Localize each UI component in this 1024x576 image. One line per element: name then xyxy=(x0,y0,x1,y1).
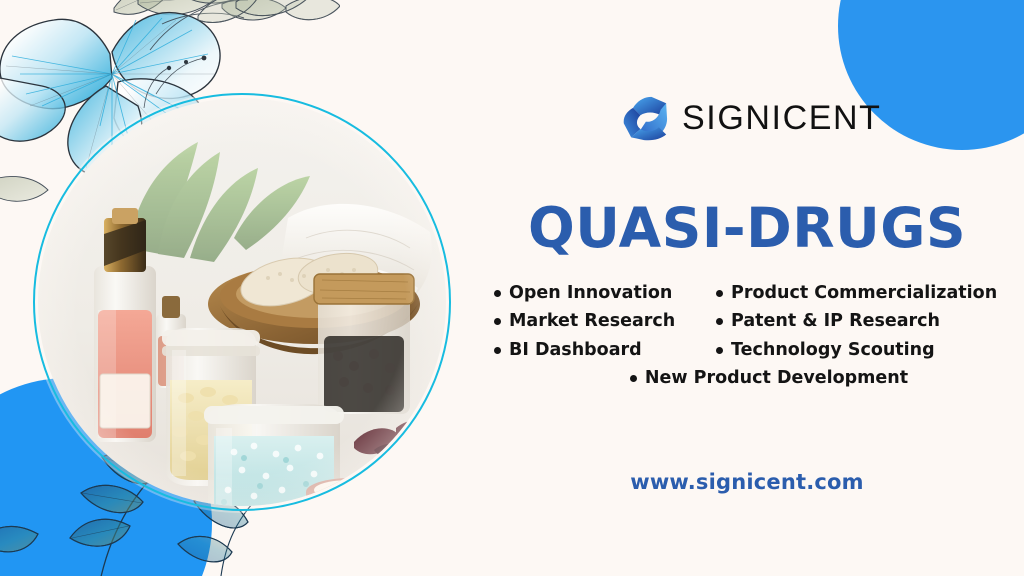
list-item: Open Innovation xyxy=(494,284,702,303)
signicent-s-logo-icon xyxy=(622,95,668,141)
services-footer-row: New Product Development xyxy=(494,369,1014,388)
bullet-dot-icon xyxy=(630,375,637,382)
list-item-label: BI Dashboard xyxy=(509,341,642,360)
bullet-dot-icon xyxy=(716,347,723,354)
list-item-label: New Product Development xyxy=(645,369,908,388)
list-item-label: Market Research xyxy=(509,312,675,331)
services-column-right: Product Commercialization Patent & IP Re… xyxy=(716,284,1012,360)
list-item-label: Patent & IP Research xyxy=(731,312,940,331)
bullet-dot-icon xyxy=(494,347,501,354)
bullet-dot-icon xyxy=(494,318,501,325)
brand-name: SIGNICENT xyxy=(682,99,882,138)
website-url[interactable]: www.signicent.com xyxy=(470,470,1024,494)
services-column-left: Open Innovation Market Research BI Dashb… xyxy=(494,284,702,360)
brand-lockup: SIGNICENT xyxy=(622,95,882,141)
list-item-label: Open Innovation xyxy=(509,284,672,303)
presentation-slide: SIGNICENT QUASI-DRUGS Open Innovation Ma… xyxy=(0,0,1024,576)
bullet-dot-icon xyxy=(716,318,723,325)
services-list: Open Innovation Market Research BI Dashb… xyxy=(494,284,1014,388)
list-item: Market Research xyxy=(494,312,702,331)
list-item: Product Commercialization xyxy=(716,284,1012,303)
list-item-label: Technology Scouting xyxy=(731,341,935,360)
list-item-label: Product Commercialization xyxy=(731,284,997,303)
product-photo-circle xyxy=(33,93,451,511)
list-item: BI Dashboard xyxy=(494,341,702,360)
services-columns: Open Innovation Market Research BI Dashb… xyxy=(494,284,1014,360)
list-item: New Product Development xyxy=(630,369,908,388)
list-item: Patent & IP Research xyxy=(716,312,1012,331)
photo-cyan-ring xyxy=(33,93,451,511)
page-title: QUASI-DRUGS xyxy=(470,196,1024,260)
bullet-dot-icon xyxy=(494,290,501,297)
list-item: Technology Scouting xyxy=(716,341,1012,360)
content-column: SIGNICENT QUASI-DRUGS Open Innovation Ma… xyxy=(470,0,1024,576)
bullet-dot-icon xyxy=(716,290,723,297)
